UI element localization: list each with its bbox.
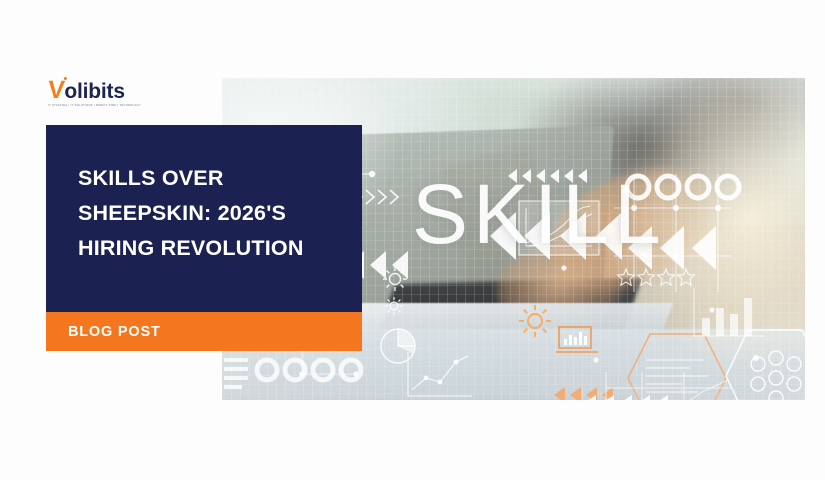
brand-logo[interactable]: Volibits IT STAFFING | IT SOLUTIONS | DI…	[48, 80, 140, 110]
category-tag-bar[interactable]: Blog Post	[46, 312, 362, 351]
logo-v-mark: V	[47, 80, 65, 101]
page-title: Skills Over Sheepskin: 2026's Hiring Rev…	[78, 161, 332, 266]
blog-post-banner: SKILL Volibits IT STAFFING | IT SOLUTION…	[0, 0, 825, 480]
logo-name: olibits	[64, 81, 124, 102]
logo-tagline: IT STAFFING | IT SOLUTIONS | DIRECT HIRE…	[48, 104, 140, 107]
logo-wordmark: Volibits	[48, 80, 140, 102]
category-tag-label: Blog Post	[68, 324, 161, 340]
headline-card: Skills Over Sheepskin: 2026's Hiring Rev…	[46, 125, 362, 312]
